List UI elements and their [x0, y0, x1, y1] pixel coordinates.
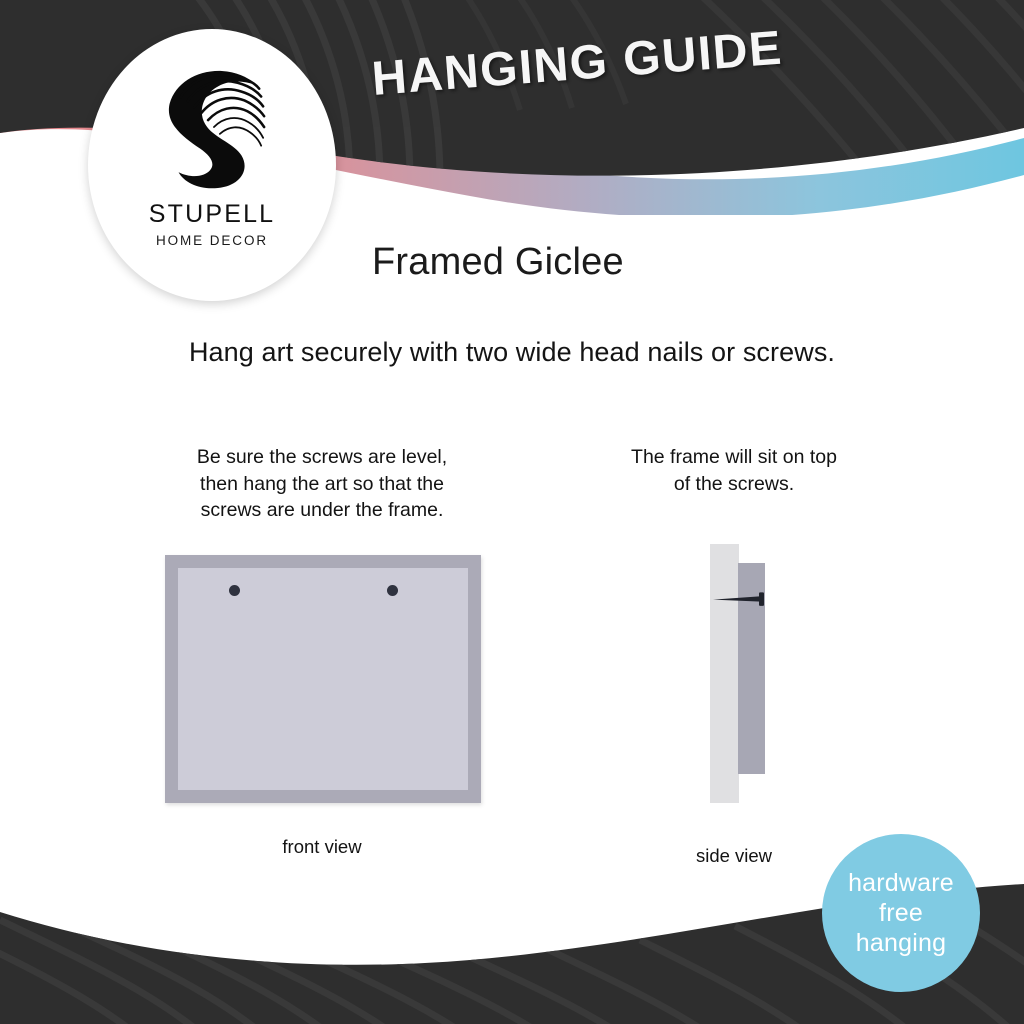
promo-badge-line3: hanging	[856, 928, 946, 958]
screw-dot-right	[387, 585, 398, 596]
hanging-guide-page: STUPELL HOME DECOR HANGING GUIDE Framed …	[0, 0, 1024, 1024]
side-view-panel: The frame will sit on top of the screws.	[570, 444, 898, 497]
side-view-instruction: The frame will sit on top of the screws.	[570, 444, 898, 497]
stupell-s-swoosh-icon	[153, 62, 271, 192]
promo-badge: hardware free hanging	[822, 834, 980, 992]
headline-instruction: Hang art securely with two wide head nai…	[0, 337, 1024, 368]
promo-badge-line1: hardware	[848, 868, 954, 898]
brand-name: STUPELL	[149, 200, 276, 229]
brand-logo-badge: STUPELL HOME DECOR	[88, 29, 336, 301]
product-type-label: Framed Giclee	[372, 241, 624, 284]
front-view-caption: front view	[128, 836, 516, 858]
front-view-panel: Be sure the screws are level, then hang …	[128, 444, 516, 524]
side-view-wall	[710, 544, 739, 803]
front-view-instruction: Be sure the screws are level, then hang …	[128, 444, 516, 524]
front-view-frame	[165, 555, 481, 803]
brand-tagline: HOME DECOR	[156, 233, 268, 248]
screw-dot-left	[229, 585, 240, 596]
promo-badge-line2: free	[879, 898, 923, 928]
front-view-frame-art	[178, 568, 468, 790]
nail-icon	[711, 590, 773, 608]
